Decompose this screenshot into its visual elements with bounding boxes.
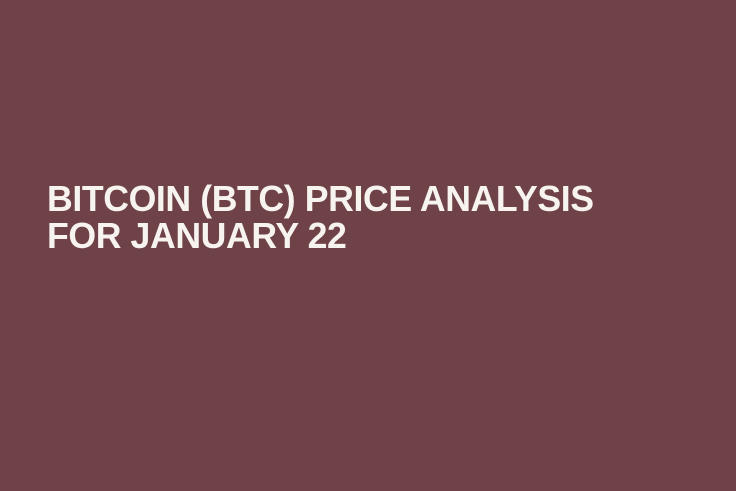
page-title: BITCOIN (BTC) PRICE ANALYSIS FOR JANUARY…: [47, 180, 647, 254]
page-title-line-2: FOR JANUARY 22: [47, 217, 641, 254]
article-hero-banner: BITCOIN (BTC) PRICE ANALYSIS FOR JANUARY…: [0, 0, 736, 491]
page-title-line-1: BITCOIN (BTC) PRICE ANALYSIS: [47, 180, 641, 217]
